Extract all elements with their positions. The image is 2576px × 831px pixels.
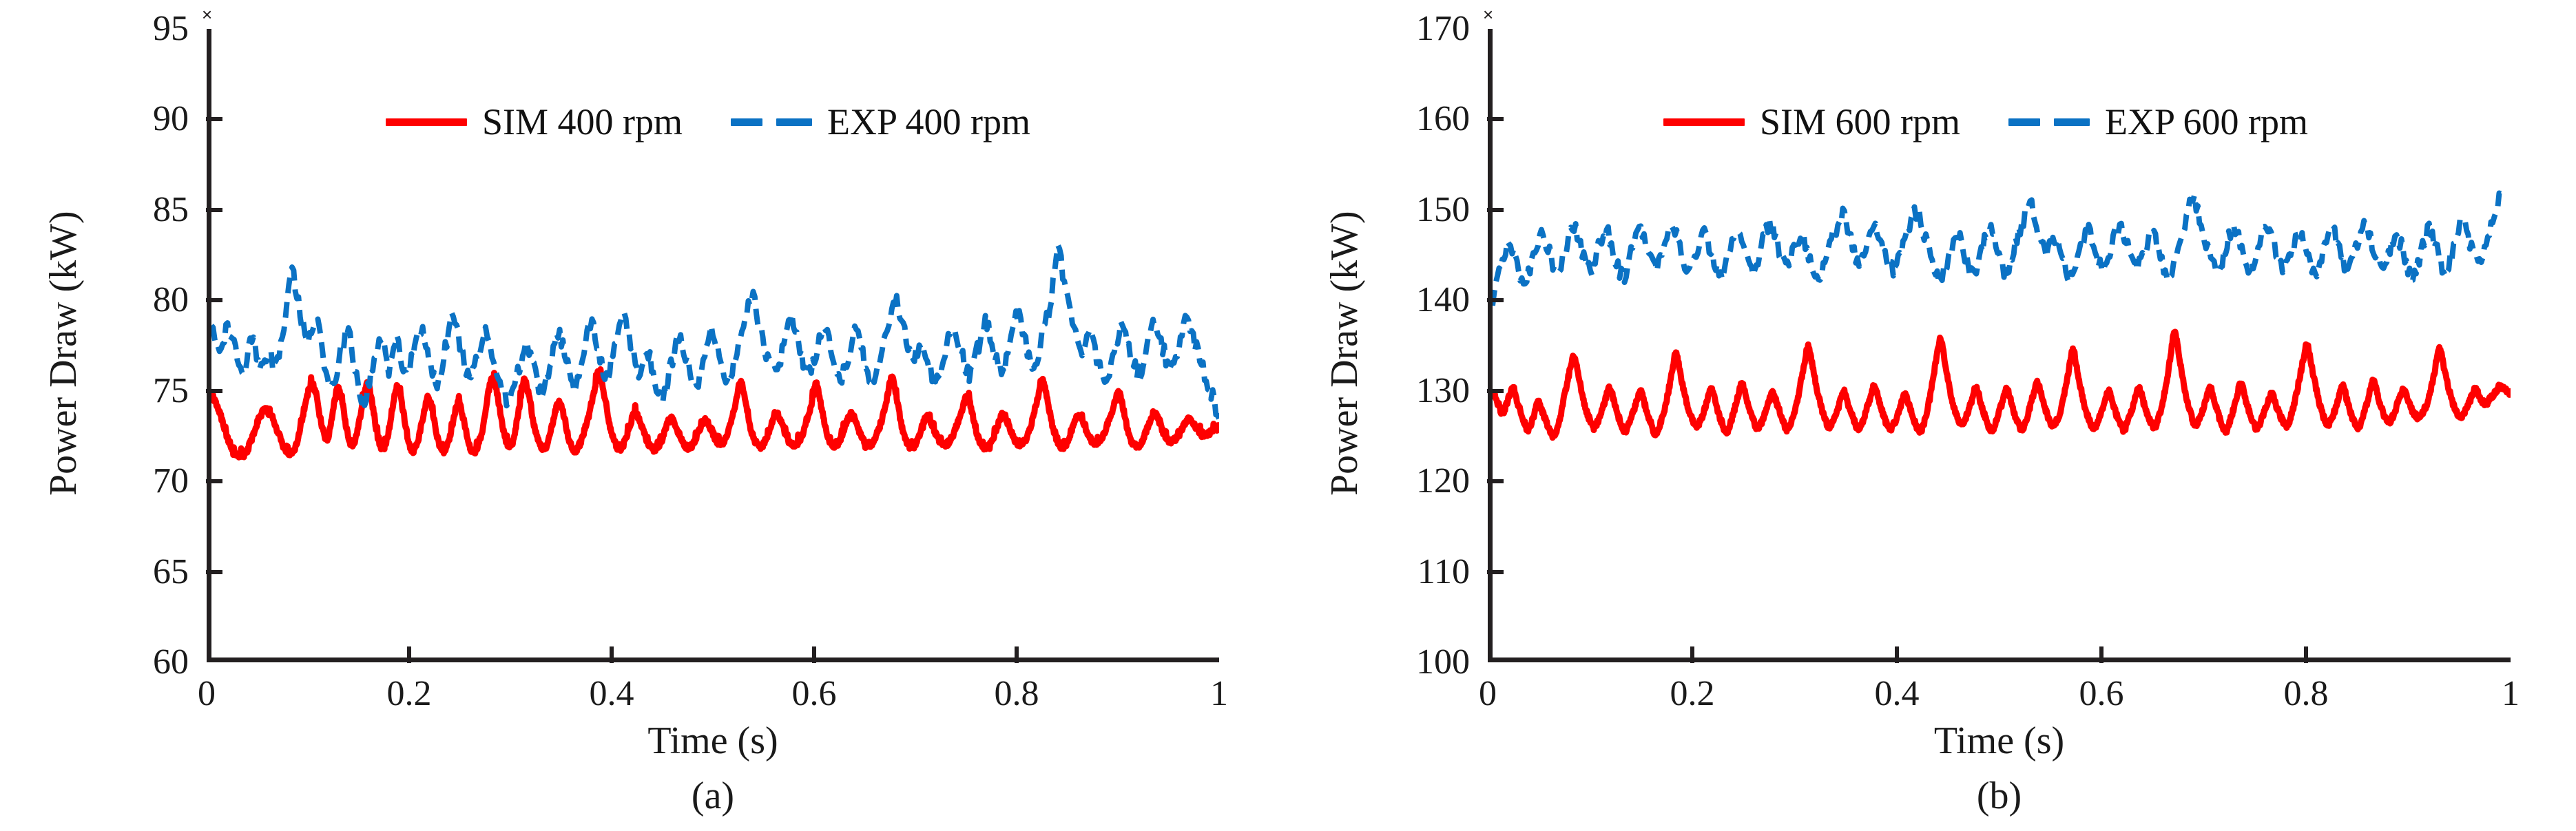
- y-tick-label: 95: [153, 11, 189, 47]
- y-tick-mark: [206, 298, 222, 302]
- x-tick-mark: [2099, 646, 2104, 663]
- x-tick-mark: [812, 646, 816, 663]
- legend-b: SIM 600 rpm EXP 600 rpm: [1663, 103, 2308, 140]
- x-tick-mark: [2304, 646, 2308, 663]
- panel-a: × 6065707580859095 00.20.40.60.81 Power …: [0, 0, 1288, 831]
- x-tick-mark: [1690, 646, 1694, 663]
- y-tick-mark: [206, 117, 222, 121]
- legend-a: SIM 400 rpm EXP 400 rpm: [386, 103, 1030, 140]
- y-tick-mark: [1487, 570, 1504, 574]
- x-tick-label: 1: [2502, 676, 2520, 712]
- x-tick-label: 0.2: [387, 676, 432, 712]
- y-tick-label: 140: [1416, 282, 1470, 318]
- x-tick-label: 0: [1479, 676, 1497, 712]
- x-tick-label: 0.4: [1875, 676, 1920, 712]
- corner-artifact-icon: ×: [1483, 6, 1493, 23]
- x-tick-label: 0.6: [792, 676, 837, 712]
- x-tick-label: 0.8: [995, 676, 1039, 712]
- y-tick-label: 90: [153, 101, 189, 137]
- y-tick-label: 150: [1416, 192, 1470, 228]
- legend-swatch-sim-600-icon: [1663, 118, 1745, 126]
- x-tick-label: 1: [1210, 676, 1228, 712]
- panel-caption-b: (b): [1488, 777, 2511, 815]
- series-line-sim: [211, 369, 1219, 457]
- y-tick-mark: [206, 208, 222, 212]
- legend-label-exp-600: EXP 600 rpm: [2105, 103, 2308, 140]
- legend-label-sim-400: SIM 400 rpm: [482, 103, 683, 140]
- legend-entry-sim-600: SIM 600 rpm: [1663, 103, 1960, 140]
- legend-swatch-sim-400-icon: [386, 118, 467, 126]
- y-tick-label: 100: [1416, 644, 1470, 680]
- y-tick-label: 160: [1416, 101, 1470, 137]
- x-tick-mark: [1015, 646, 1019, 663]
- panel-b: × 100110120130140150160170 00.20.40.60.8…: [1288, 0, 2576, 831]
- x-tick-mark: [610, 646, 614, 663]
- y-tick-mark: [1487, 479, 1504, 483]
- panel-caption-a: (a): [207, 777, 1219, 815]
- x-tick-label: 0: [198, 676, 216, 712]
- y-tick-mark: [206, 389, 222, 393]
- y-tick-label: 130: [1416, 373, 1470, 409]
- legend-entry-exp-400: EXP 400 rpm: [731, 103, 1030, 140]
- series-line-sim: [1493, 332, 2511, 438]
- x-tick-mark: [407, 646, 411, 663]
- corner-artifact-icon: ×: [202, 6, 212, 23]
- y-tick-label: 110: [1417, 554, 1470, 590]
- y-tick-mark: [1487, 389, 1504, 393]
- figure-root: × 6065707580859095 00.20.40.60.81 Power …: [0, 0, 2576, 831]
- y-tick-label: 120: [1416, 463, 1470, 499]
- y-tick-label: 80: [153, 282, 189, 318]
- legend-swatch-exp-600-icon: [2008, 118, 2090, 126]
- x-tick-label: 0.8: [2284, 676, 2329, 712]
- y-tick-label: 60: [153, 644, 189, 680]
- x-axis-title-b: Time (s): [1488, 722, 2511, 760]
- y-tick-label: 65: [153, 554, 189, 590]
- x-tick-label: 0.4: [590, 676, 634, 712]
- legend-label-sim-600: SIM 600 rpm: [1760, 103, 1960, 140]
- y-tick-label: 75: [153, 373, 189, 409]
- y-tick-label: 70: [153, 463, 189, 499]
- y-tick-mark: [206, 570, 222, 574]
- x-tick-label: 0.2: [1670, 676, 1715, 712]
- y-tick-mark: [1487, 208, 1504, 212]
- y-axis-title-a: Power Draw (kW): [44, 211, 83, 496]
- x-axis-title-a: Time (s): [207, 722, 1219, 760]
- legend-entry-exp-600: EXP 600 rpm: [2008, 103, 2308, 140]
- series-line-exp: [1493, 193, 2501, 305]
- y-tick-mark: [206, 479, 222, 483]
- y-axis-title-b: Power Draw (kW): [1325, 211, 1364, 496]
- x-tick-label: 0.6: [2079, 676, 2124, 712]
- y-tick-label: 170: [1416, 11, 1470, 47]
- legend-swatch-exp-400-icon: [731, 118, 812, 126]
- legend-entry-sim-400: SIM 400 rpm: [386, 103, 683, 140]
- legend-label-exp-400: EXP 400 rpm: [827, 103, 1030, 140]
- x-tick-mark: [1895, 646, 1899, 663]
- y-tick-mark: [1487, 298, 1504, 302]
- y-tick-mark: [1487, 117, 1504, 121]
- y-tick-label: 85: [153, 192, 189, 228]
